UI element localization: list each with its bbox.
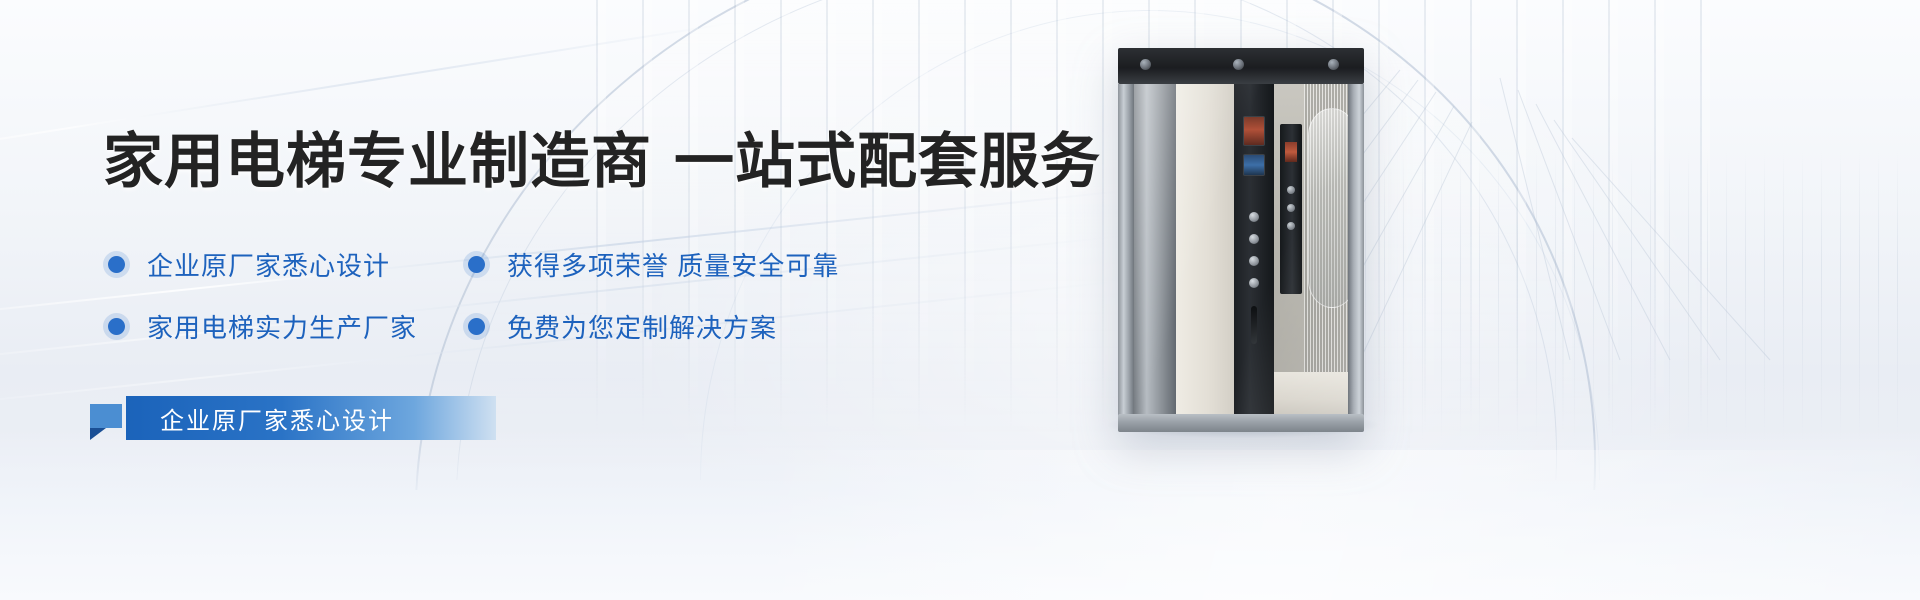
home-elevator-image (1118, 48, 1364, 418)
control-display-icon (1243, 116, 1265, 146)
bullet-item: 免费为您定制解决方案 (468, 308, 777, 345)
bullet-row: 家用电梯实力生产厂家 免费为您定制解决方案 (108, 308, 928, 345)
ribbon-tag: 企业原厂家悉心设计 (108, 396, 496, 440)
bullet-label: 获得多项荣誉 质量安全可靠 (507, 246, 839, 283)
bullet-dot-icon (468, 256, 485, 273)
feature-bullets: 企业原厂家悉心设计 获得多项荣誉 质量安全可靠 家用电梯实力生产厂家 免费为您定… (108, 246, 928, 370)
control-button-icon (1249, 278, 1259, 288)
cabin-display-icon (1285, 142, 1297, 162)
elevator-control-panel (1234, 84, 1274, 418)
elevator-body (1134, 84, 1348, 418)
cabin-mirror (1308, 108, 1348, 308)
control-button-icon (1249, 212, 1259, 222)
bullet-label: 免费为您定制解决方案 (507, 308, 777, 345)
banner-content: 家用电梯专业制造商一站式配套服务 企业原厂家悉心设计 获得多项荣誉 质量安全可靠… (0, 0, 1100, 600)
bullet-label: 家用电梯实力生产厂家 (147, 308, 417, 345)
elevator-door-leaf (1176, 84, 1234, 418)
ribbon-body: 企业原厂家悉心设计 (126, 396, 496, 440)
elevator-left-post (1118, 84, 1134, 418)
frame-bolt-icon (1140, 59, 1151, 70)
ribbon-label: 企业原厂家悉心设计 (126, 401, 394, 436)
cabin-button-icon (1287, 204, 1295, 212)
bullet-dot-icon (468, 318, 485, 335)
elevator-steel-panel (1134, 84, 1176, 418)
cabin-button-icon (1287, 222, 1295, 230)
control-button-icon (1249, 234, 1259, 244)
headline-part-1: 家用电梯专业制造商 (103, 128, 652, 195)
elevator-cabin-interior (1274, 84, 1348, 418)
ribbon-fold-corner (90, 404, 122, 428)
headline-part-2: 一站式配套服务 (674, 128, 1101, 195)
bullet-dot-icon (108, 318, 125, 335)
frame-bolt-icon (1328, 59, 1339, 70)
control-button-icon (1249, 256, 1259, 266)
bullet-item: 企业原厂家悉心设计 (108, 246, 468, 283)
cabin-control-panel (1280, 124, 1302, 294)
control-slot-icon (1251, 306, 1257, 344)
elevator-header-frame (1118, 48, 1364, 84)
frame-bolt-icon (1233, 59, 1244, 70)
elevator-base-plinth (1118, 414, 1364, 432)
glass-curtain-wall-right (1290, 150, 1910, 440)
page-title: 家用电梯专业制造商一站式配套服务 (103, 113, 1101, 200)
bullet-row: 企业原厂家悉心设计 获得多项荣誉 质量安全可靠 (108, 246, 928, 283)
promo-banner: 家用电梯专业制造商一站式配套服务 企业原厂家悉心设计 获得多项荣誉 质量安全可靠… (0, 0, 1920, 600)
bullet-item: 家用电梯实力生产厂家 (108, 308, 468, 345)
bullet-dot-icon (108, 256, 125, 273)
cabin-button-icon (1287, 186, 1295, 194)
bullet-label: 企业原厂家悉心设计 (147, 246, 390, 283)
cabin-floor-tile (1274, 372, 1348, 418)
control-display-secondary-icon (1243, 154, 1265, 176)
bullet-item: 获得多项荣誉 质量安全可靠 (468, 246, 839, 283)
